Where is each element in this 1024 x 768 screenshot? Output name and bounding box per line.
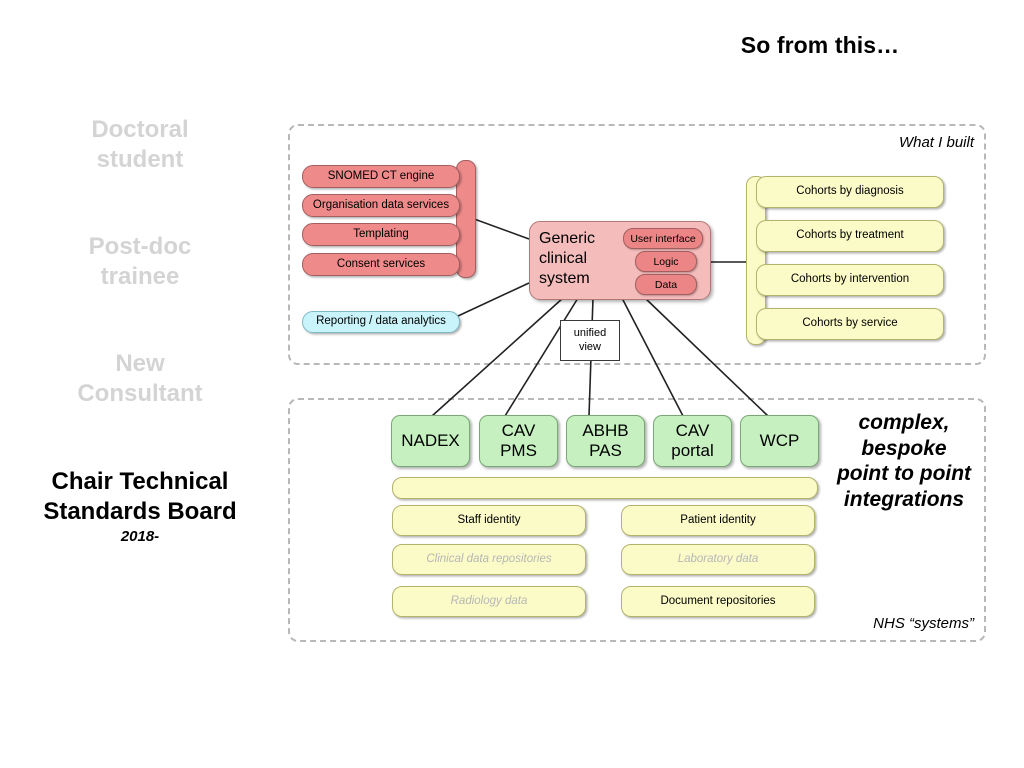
repository-label: Staff identity bbox=[457, 514, 520, 528]
reporting-label: Reporting / data analytics bbox=[316, 315, 446, 329]
repository-radiology-data[interactable]: Radiology data bbox=[392, 586, 586, 617]
reporting-data-analytics-pill[interactable]: Reporting / data analytics bbox=[302, 311, 460, 333]
layer-label: Logic bbox=[653, 256, 678, 268]
generic-clinical-system-box[interactable]: Genericclinicalsystem User interface Log… bbox=[529, 221, 711, 300]
repository-document-repositories[interactable]: Document repositories bbox=[621, 586, 815, 617]
repository-label: Radiology data bbox=[451, 595, 528, 609]
unified-view-label: unifiedview bbox=[574, 327, 606, 355]
career-label: Chair TechnicalStandards Board bbox=[43, 468, 236, 525]
career-label: Post-doctrainee bbox=[89, 233, 192, 290]
layer-label: User interface bbox=[630, 233, 695, 245]
career-stage-doctoral-student: Doctoralstudent bbox=[20, 115, 260, 174]
slide-title: So from this… bbox=[620, 32, 1020, 59]
career-label: Doctoralstudent bbox=[91, 116, 188, 173]
repository-label: Patient identity bbox=[680, 514, 755, 528]
generic-clinical-system-title: Genericclinicalsystem bbox=[539, 229, 595, 289]
repository-label: Clinical data repositories bbox=[426, 553, 551, 567]
repository-label: Document repositories bbox=[660, 595, 775, 609]
nhs-system-wcp[interactable]: WCP bbox=[740, 415, 819, 467]
repository-staff-identity[interactable]: Staff identity bbox=[392, 505, 586, 536]
cohort-label: Cohorts by service bbox=[802, 317, 897, 331]
nhs-system-label: CAVportal bbox=[671, 421, 714, 462]
service-label: Consent services bbox=[337, 258, 425, 272]
career-stage-chair-technical-standards-board: Chair TechnicalStandards Board 2018- bbox=[20, 467, 260, 546]
nhs-system-cav-pms[interactable]: CAVPMS bbox=[479, 415, 558, 467]
service-pill-snomed-ct-engine[interactable]: SNOMED CT engine bbox=[302, 165, 460, 188]
cohort-label: Cohorts by intervention bbox=[791, 273, 909, 287]
cohort-pill-by-diagnosis[interactable]: Cohorts by diagnosis bbox=[756, 176, 944, 208]
cohort-label: Cohorts by diagnosis bbox=[796, 185, 903, 199]
cohort-label: Cohorts by treatment bbox=[796, 229, 903, 243]
nhs-system-nadex[interactable]: NADEX bbox=[391, 415, 470, 467]
layer-label: Data bbox=[655, 279, 677, 291]
unified-view-box[interactable]: unifiedview bbox=[560, 320, 620, 361]
cohort-pill-by-service[interactable]: Cohorts by service bbox=[756, 308, 944, 340]
career-stage-post-doc-trainee: Post-doctrainee bbox=[20, 232, 260, 291]
nhs-system-label: ABHBPAS bbox=[582, 421, 628, 462]
layer-pill-data[interactable]: Data bbox=[635, 274, 697, 295]
service-pill-organisation-data-services[interactable]: Organisation data services bbox=[302, 194, 460, 217]
cohort-pill-by-intervention[interactable]: Cohorts by intervention bbox=[756, 264, 944, 296]
service-label: Templating bbox=[353, 228, 409, 242]
career-label: NewConsultant bbox=[77, 350, 202, 407]
nhs-system-label: WCP bbox=[760, 431, 800, 451]
career-years: 2018- bbox=[20, 528, 260, 546]
career-stage-new-consultant: NewConsultant bbox=[20, 349, 260, 408]
cohort-pill-by-treatment[interactable]: Cohorts by treatment bbox=[756, 220, 944, 252]
layer-pill-logic[interactable]: Logic bbox=[635, 251, 697, 272]
repository-clinical-data-repositories[interactable]: Clinical data repositories bbox=[392, 544, 586, 575]
service-label: Organisation data services bbox=[313, 199, 449, 213]
nhs-system-label: CAVPMS bbox=[500, 421, 537, 462]
service-pill-consent-services[interactable]: Consent services bbox=[302, 253, 460, 276]
nhs-system-cav-portal[interactable]: CAVportal bbox=[653, 415, 732, 467]
integration-bus-bar[interactable] bbox=[392, 477, 818, 499]
slide-canvas: So from this… Doctoralstudent Post-doctr… bbox=[0, 0, 1024, 768]
panel-label-nhs-systems: NHS “systems” bbox=[873, 615, 974, 632]
layer-pill-user-interface[interactable]: User interface bbox=[623, 228, 703, 249]
nhs-system-label: NADEX bbox=[401, 431, 460, 451]
repository-laboratory-data[interactable]: Laboratory data bbox=[621, 544, 815, 575]
service-pill-templating[interactable]: Templating bbox=[302, 223, 460, 246]
panel-label-what-i-built: What I built bbox=[899, 134, 974, 151]
service-label: SNOMED CT engine bbox=[328, 170, 435, 184]
repository-patient-identity[interactable]: Patient identity bbox=[621, 505, 815, 536]
repository-label: Laboratory data bbox=[678, 553, 759, 567]
nhs-system-abhb-pas[interactable]: ABHBPAS bbox=[566, 415, 645, 467]
integration-annotation: complex,bespokepoint to pointintegration… bbox=[824, 410, 984, 512]
